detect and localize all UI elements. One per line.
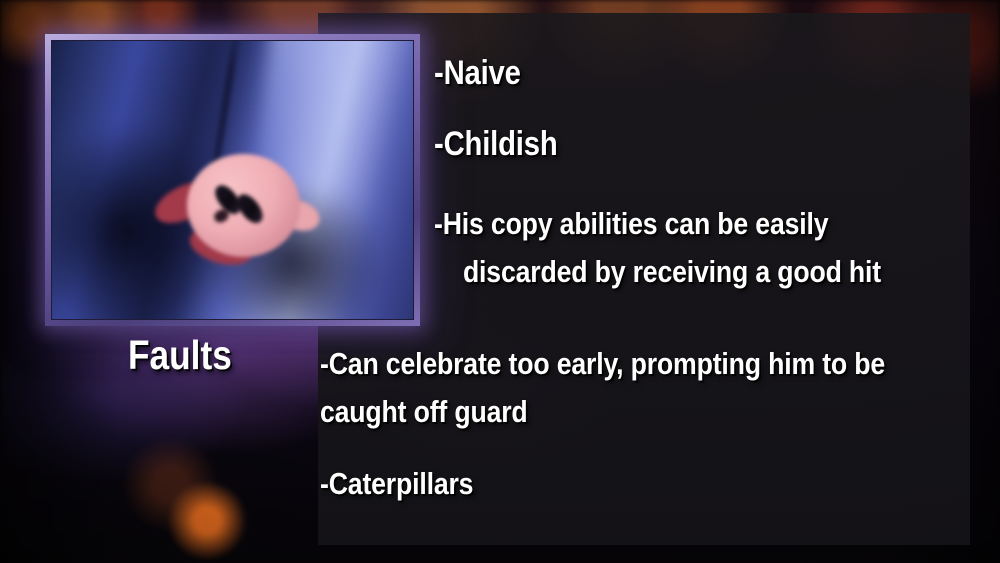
slide-canvas: Faults -Naive -Childish -His copy abilit…: [0, 0, 1000, 563]
bullet-celebrate-too-early: -Can celebrate too early, prompting him …: [320, 340, 956, 436]
bullet-childish: -Childish: [434, 125, 558, 164]
bullet-naive: -Naive: [434, 54, 521, 93]
section-caption-faults: Faults: [128, 332, 232, 379]
photo-blur-overlay: [52, 41, 413, 319]
bullet-copy-abilities: -His copy abilities can be easily discar…: [434, 200, 881, 296]
photo-image: [51, 40, 414, 320]
bullet-caterpillars: -Caterpillars: [320, 466, 473, 502]
photo-frame: [45, 34, 420, 326]
